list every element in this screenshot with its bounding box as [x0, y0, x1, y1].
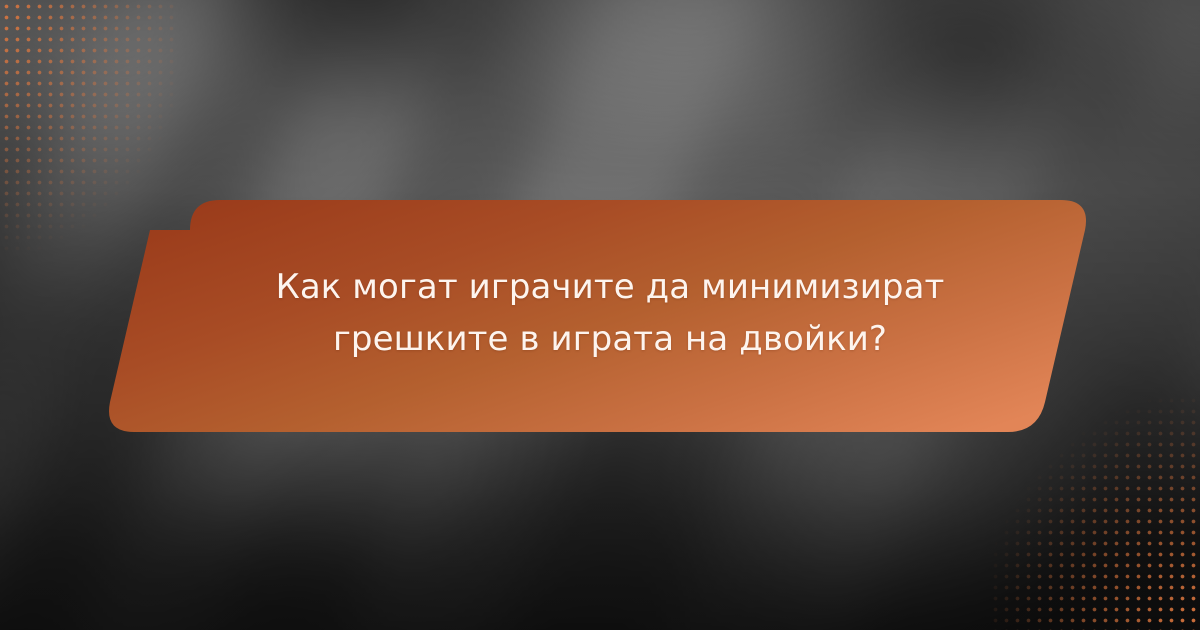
- headline-container: Как могат играчите да минимизиратгрешкит…: [95, 196, 1105, 436]
- share-card: Как могат играчите да минимизиратгрешкит…: [0, 0, 1200, 630]
- page-title: Как могат играчите да минимизиратгрешкит…: [276, 261, 945, 365]
- headline-line-2: грешките в играта на двойки?: [333, 319, 887, 359]
- headline-banner: Как могат играчите да минимизиратгрешкит…: [95, 196, 1105, 436]
- headline-line-1: Как могат играчите да минимизират: [276, 267, 945, 307]
